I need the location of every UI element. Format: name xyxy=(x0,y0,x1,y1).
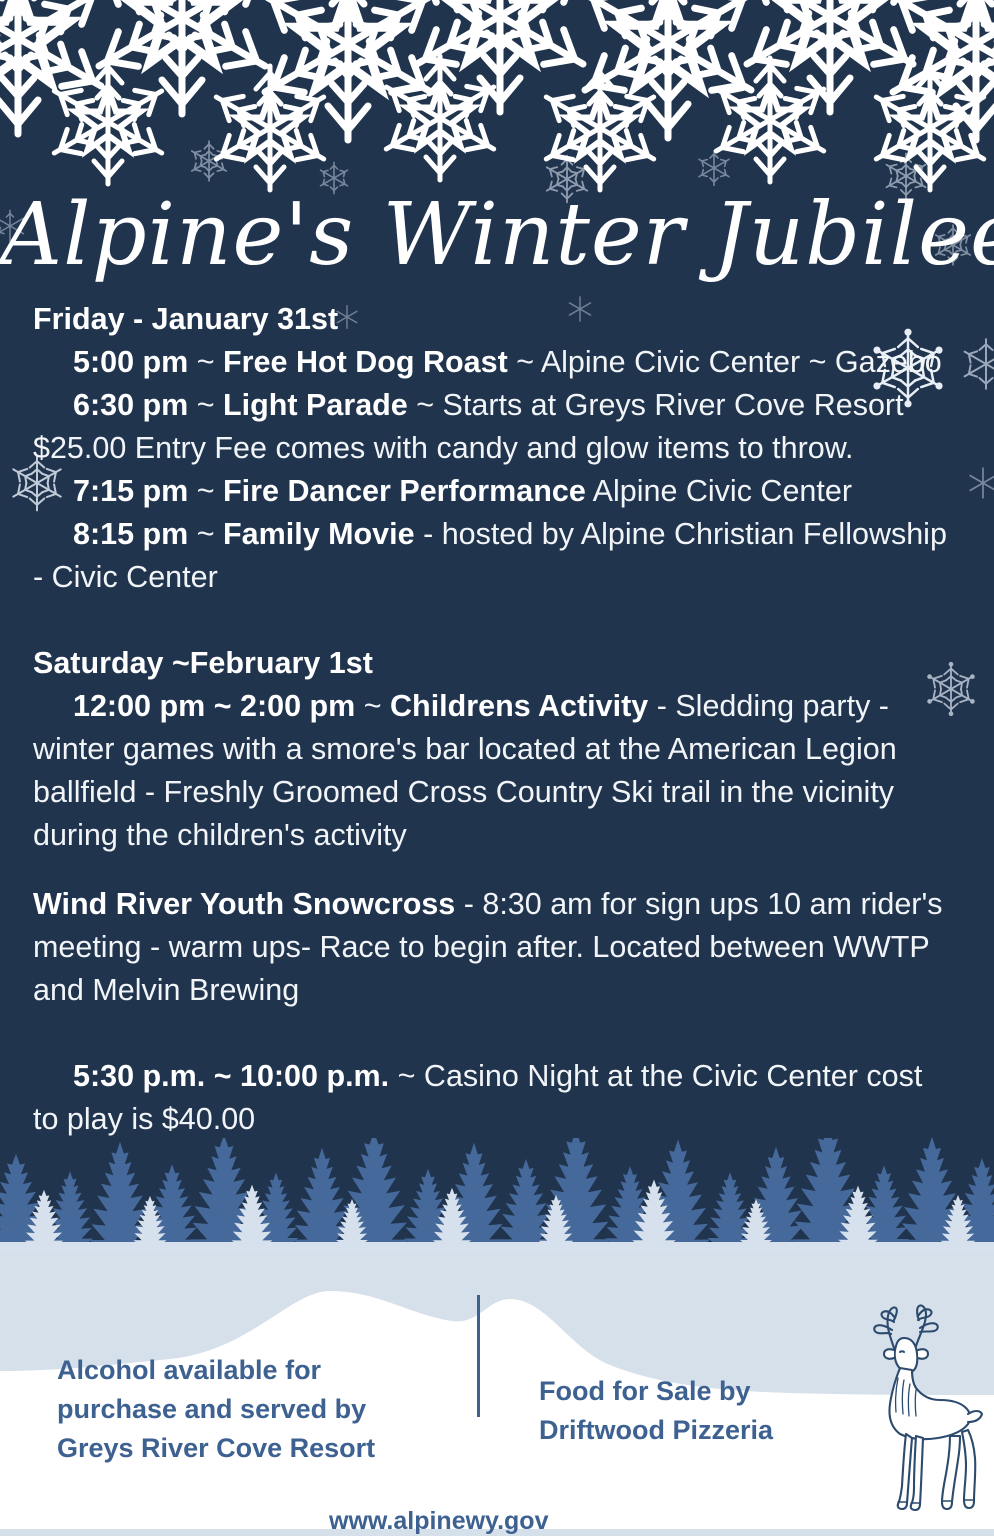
event-time: 5:00 pm xyxy=(73,345,188,379)
decorative-snowflake xyxy=(966,466,994,500)
event-schedule: Friday - January 31st 5:00 pm ~ Free Hot… xyxy=(33,298,953,1141)
event-sep: ~ xyxy=(188,517,223,551)
spacer xyxy=(33,857,953,883)
spacer xyxy=(33,599,953,642)
event-sep: ~ xyxy=(188,388,223,422)
event-sep2: - xyxy=(415,517,442,551)
decorative-snowflake xyxy=(958,336,994,392)
vertical-divider xyxy=(477,1295,480,1417)
event-name: Free Hot Dog Roast xyxy=(223,345,508,379)
poster-root: Alpine's Winter Jubilee Friday - January… xyxy=(0,0,994,1536)
friday-event-3: 8:15 pm ~ Family Movie - hosted by Alpin… xyxy=(33,513,953,599)
poster-title: Alpine's Winter Jubilee xyxy=(0,192,994,278)
event-time: 7:15 pm xyxy=(73,474,188,508)
event-sep: ~ xyxy=(355,689,390,723)
event-time: 12:00 pm ~ 2:00 pm xyxy=(73,689,355,723)
friday-event-0: 5:00 pm ~ Free Hot Dog Roast ~ Alpine Ci… xyxy=(33,341,953,384)
event-detail: Alpine Civic Center xyxy=(593,474,852,508)
event-detail: Alpine Civic Center ~ Gazebo xyxy=(541,345,942,379)
website-link[interactable]: www.alpinewy.gov xyxy=(329,1507,548,1535)
event-name: Light Parade xyxy=(223,388,408,422)
event-name: Family Movie xyxy=(223,517,415,551)
friday-event-1: 6:30 pm ~ Light Parade ~ Starts at Greys… xyxy=(33,384,953,470)
snowflake-star-border xyxy=(0,0,994,200)
event-sep: ~ xyxy=(389,1059,424,1093)
saturday-heading: Saturday ~February 1st xyxy=(33,646,373,680)
event-name: Wind River Youth Snowcross xyxy=(33,887,455,921)
saturday-event-0: 12:00 pm ~ 2:00 pm ~ Childrens Activity … xyxy=(33,685,953,857)
spacer xyxy=(33,1012,953,1055)
saturday-heading-row: Saturday ~February 1st xyxy=(33,642,953,685)
pine-tree-silhouettes xyxy=(0,1138,994,1253)
friday-heading: Friday - January 31st xyxy=(33,302,338,336)
event-sep: ~ xyxy=(188,474,223,508)
food-note: Food for Sale by Driftwood Pizzeria xyxy=(539,1372,869,1450)
event-sep: ~ xyxy=(188,345,223,379)
event-name: Fire Dancer Performance xyxy=(223,474,586,508)
friday-event-2: 7:15 pm ~ Fire Dancer Performance Alpine… xyxy=(33,470,953,513)
border-flake-row xyxy=(0,0,994,190)
event-sep2: - xyxy=(648,689,675,723)
friday-heading-row: Friday - January 31st xyxy=(33,298,953,341)
footer: Alcohol available for purchase and serve… xyxy=(0,1253,994,1536)
event-time: 5:30 p.m. ~ 10:00 p.m. xyxy=(73,1059,389,1093)
event-sep2: - xyxy=(455,887,482,921)
snow-ground xyxy=(0,1242,994,1253)
event-time: 8:15 pm xyxy=(73,517,188,551)
event-sep2: ~ xyxy=(408,388,443,422)
deer-icon xyxy=(854,1290,984,1520)
saturday-event-2: 5:30 p.m. ~ 10:00 p.m. ~ Casino Night at… xyxy=(33,1055,953,1141)
alcohol-note: Alcohol available for purchase and serve… xyxy=(57,1351,447,1468)
event-sep2 xyxy=(586,474,593,508)
saturday-event-1: Wind River Youth Snowcross - 8:30 am for… xyxy=(33,883,953,1012)
event-time: 6:30 pm xyxy=(73,388,188,422)
event-sep2: ~ xyxy=(508,345,541,379)
event-name: Childrens Activity xyxy=(390,689,648,723)
